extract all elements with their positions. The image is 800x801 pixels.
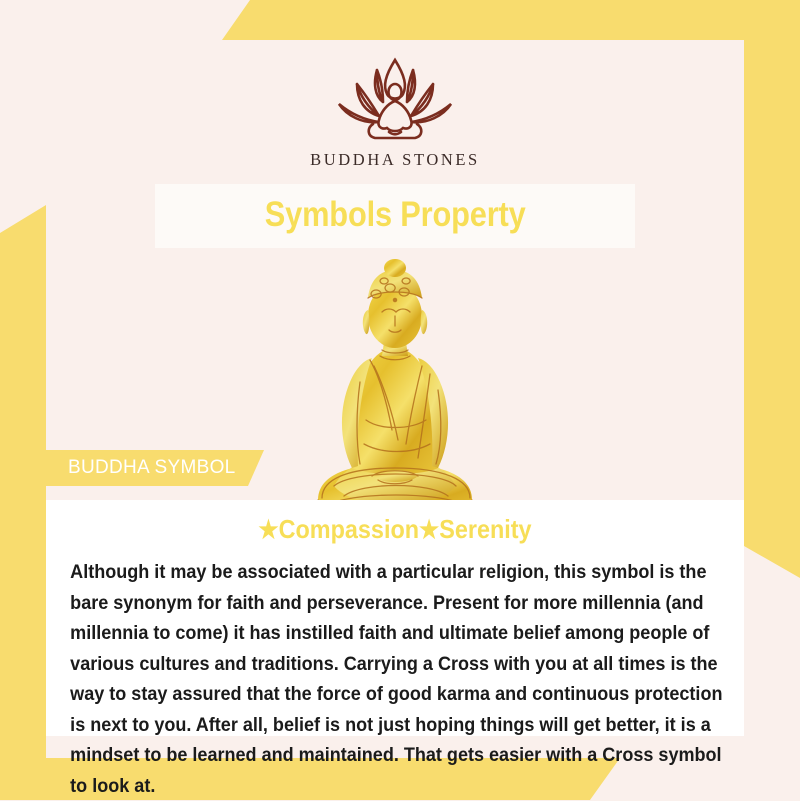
seated-buddha-statue bbox=[300, 254, 490, 522]
content-headline: ★Compassion★Serenity bbox=[81, 514, 709, 545]
buddha-symbol-ribbon-label: BUDDHA SYMBOL bbox=[46, 457, 236, 479]
star-icon-right: ★ bbox=[419, 516, 439, 544]
left-accent-bar bbox=[0, 205, 46, 780]
top-accent-bar bbox=[222, 0, 800, 40]
buddha-symbol-ribbon: BUDDHA SYMBOL bbox=[46, 450, 264, 486]
lotus-meditation-icon bbox=[325, 54, 465, 146]
page-card: BUDDHA STONES Symbols Property bbox=[46, 40, 744, 758]
page-title: Symbols Property bbox=[265, 195, 526, 235]
title-banner: Symbols Property bbox=[155, 184, 635, 248]
body-paragraph: Although it may be associated with a par… bbox=[46, 557, 741, 801]
brand-name: BUDDHA STONES bbox=[46, 150, 744, 170]
header: BUDDHA STONES Symbols Property bbox=[46, 40, 744, 248]
content-panel: ★Compassion★Serenity Although it may be … bbox=[46, 500, 744, 736]
headline-word-serenity: Serenity bbox=[439, 514, 531, 544]
star-icon-left: ★ bbox=[258, 516, 278, 544]
headline-word-compassion: Compassion bbox=[279, 514, 419, 544]
right-accent-bar bbox=[744, 0, 800, 578]
